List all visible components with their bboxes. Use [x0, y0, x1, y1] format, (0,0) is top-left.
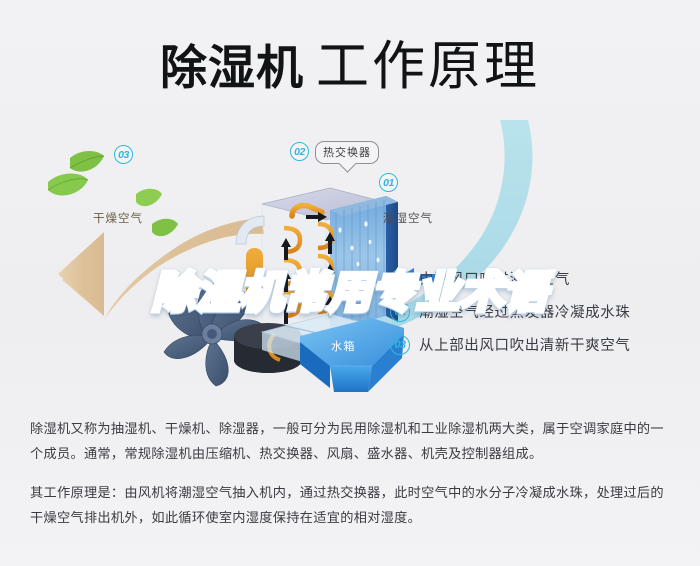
paragraph-2: 其工作原理是：由风机将潮湿空气抽入机内，通过热交换器，此时空气中的水分子冷凝成水…: [30, 480, 675, 530]
legend-badge-02: 02: [390, 302, 410, 322]
title-part-1: 除湿机: [160, 41, 304, 94]
badge-02-heat-exchanger: 02: [290, 142, 309, 161]
list-item: 03 从上部出风口吹出清新干爽空气: [390, 328, 690, 361]
legend-text-01: 由进风口吸进潮湿空气: [419, 268, 570, 289]
infographic-page: 除湿机工作原理: [0, 0, 700, 566]
paragraph-1: 除湿机又称为抽湿机、干燥机、除湿器，一般可分为民用除湿机和工业除湿机两大类，属于…: [30, 416, 675, 466]
page-title: 除湿机工作原理: [0, 24, 700, 100]
label-dry-air: 干燥空气: [93, 210, 143, 226]
legend-badge-03: 03: [390, 335, 410, 355]
compressor-cylinder: [246, 248, 263, 312]
legend-text-03: 从上部出风口吹出清新干爽空气: [419, 334, 630, 355]
list-item: 01 由进风口吸进潮湿空气: [390, 262, 690, 295]
body-copy: 除湿机又称为抽湿机、干燥机、除湿器，一般可分为民用除湿机和工业除湿机两大类，属于…: [30, 416, 675, 530]
badge-01-humid-air: 01: [379, 173, 398, 192]
label-water-tank: 水箱: [331, 338, 356, 354]
list-item: 02 潮湿空气经过蒸发器冷凝成水珠: [390, 295, 690, 328]
legend-text-02: 潮湿空气经过蒸发器冷凝成水珠: [419, 301, 630, 322]
label-humid-air: 潮湿空气: [383, 210, 433, 226]
title-part-2: 工作原理: [316, 37, 540, 96]
legend-badge-01: 01: [390, 269, 410, 289]
legend-list: 01 由进风口吸进潮湿空气 02 潮湿空气经过蒸发器冷凝成水珠 03 从上部出风…: [390, 262, 690, 361]
badge-03-dry-air: 03: [114, 145, 133, 164]
